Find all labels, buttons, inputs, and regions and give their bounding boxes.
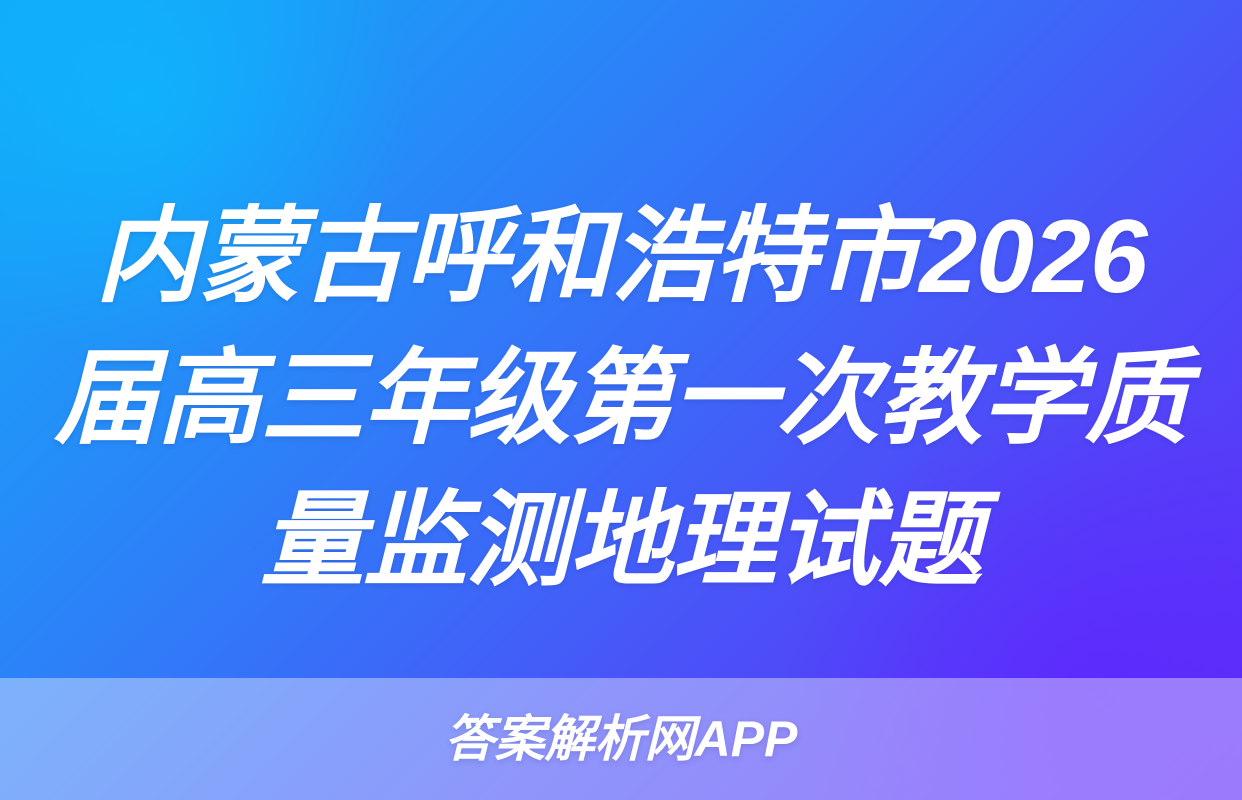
title-line-1: 内蒙古呼和浩特市2026 (46, 186, 1196, 328)
title-line-2: 届高三年级第一次教学质 (46, 328, 1196, 470)
watermark-band: 答案解析网APP (0, 678, 1242, 800)
page-title: 内蒙古呼和浩特市2026 届高三年级第一次教学质 量监测地理试题 (0, 186, 1242, 612)
title-line-3: 量监测地理试题 (46, 470, 1196, 612)
watermark-label: 答案解析网APP (445, 712, 798, 766)
poster-canvas: 内蒙古呼和浩特市2026 届高三年级第一次教学质 量监测地理试题 答案解析网AP… (0, 0, 1242, 800)
